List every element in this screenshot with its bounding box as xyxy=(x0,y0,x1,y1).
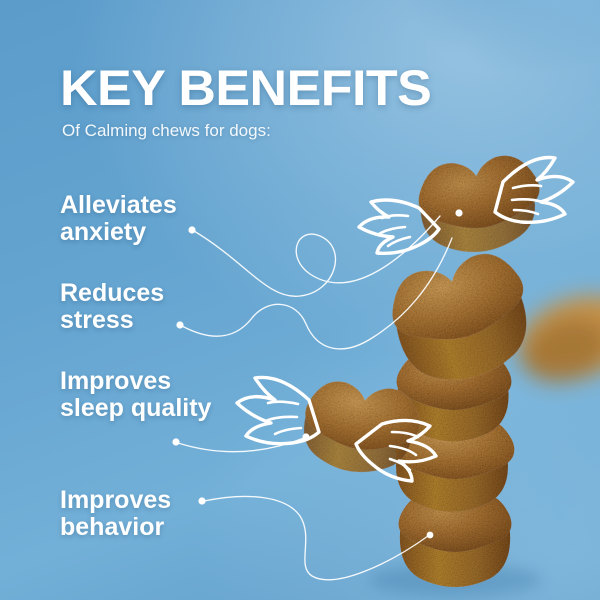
poster-canvas: KEY BENEFITS Of Calming chews for dogs: … xyxy=(0,0,600,600)
benefit-item-3: Improves sleep quality xyxy=(60,368,240,422)
benefit-item-4: Improves behavior xyxy=(60,487,240,541)
winged-heart-chew-top xyxy=(359,151,573,259)
benefit-item-2: Reduces stress xyxy=(60,280,240,334)
page-subtitle: Of Calming chews for dogs: xyxy=(62,120,271,142)
page-title: KEY BENEFITS xyxy=(60,62,431,114)
benefit-item-1: Alleviates anxiety xyxy=(60,192,240,246)
